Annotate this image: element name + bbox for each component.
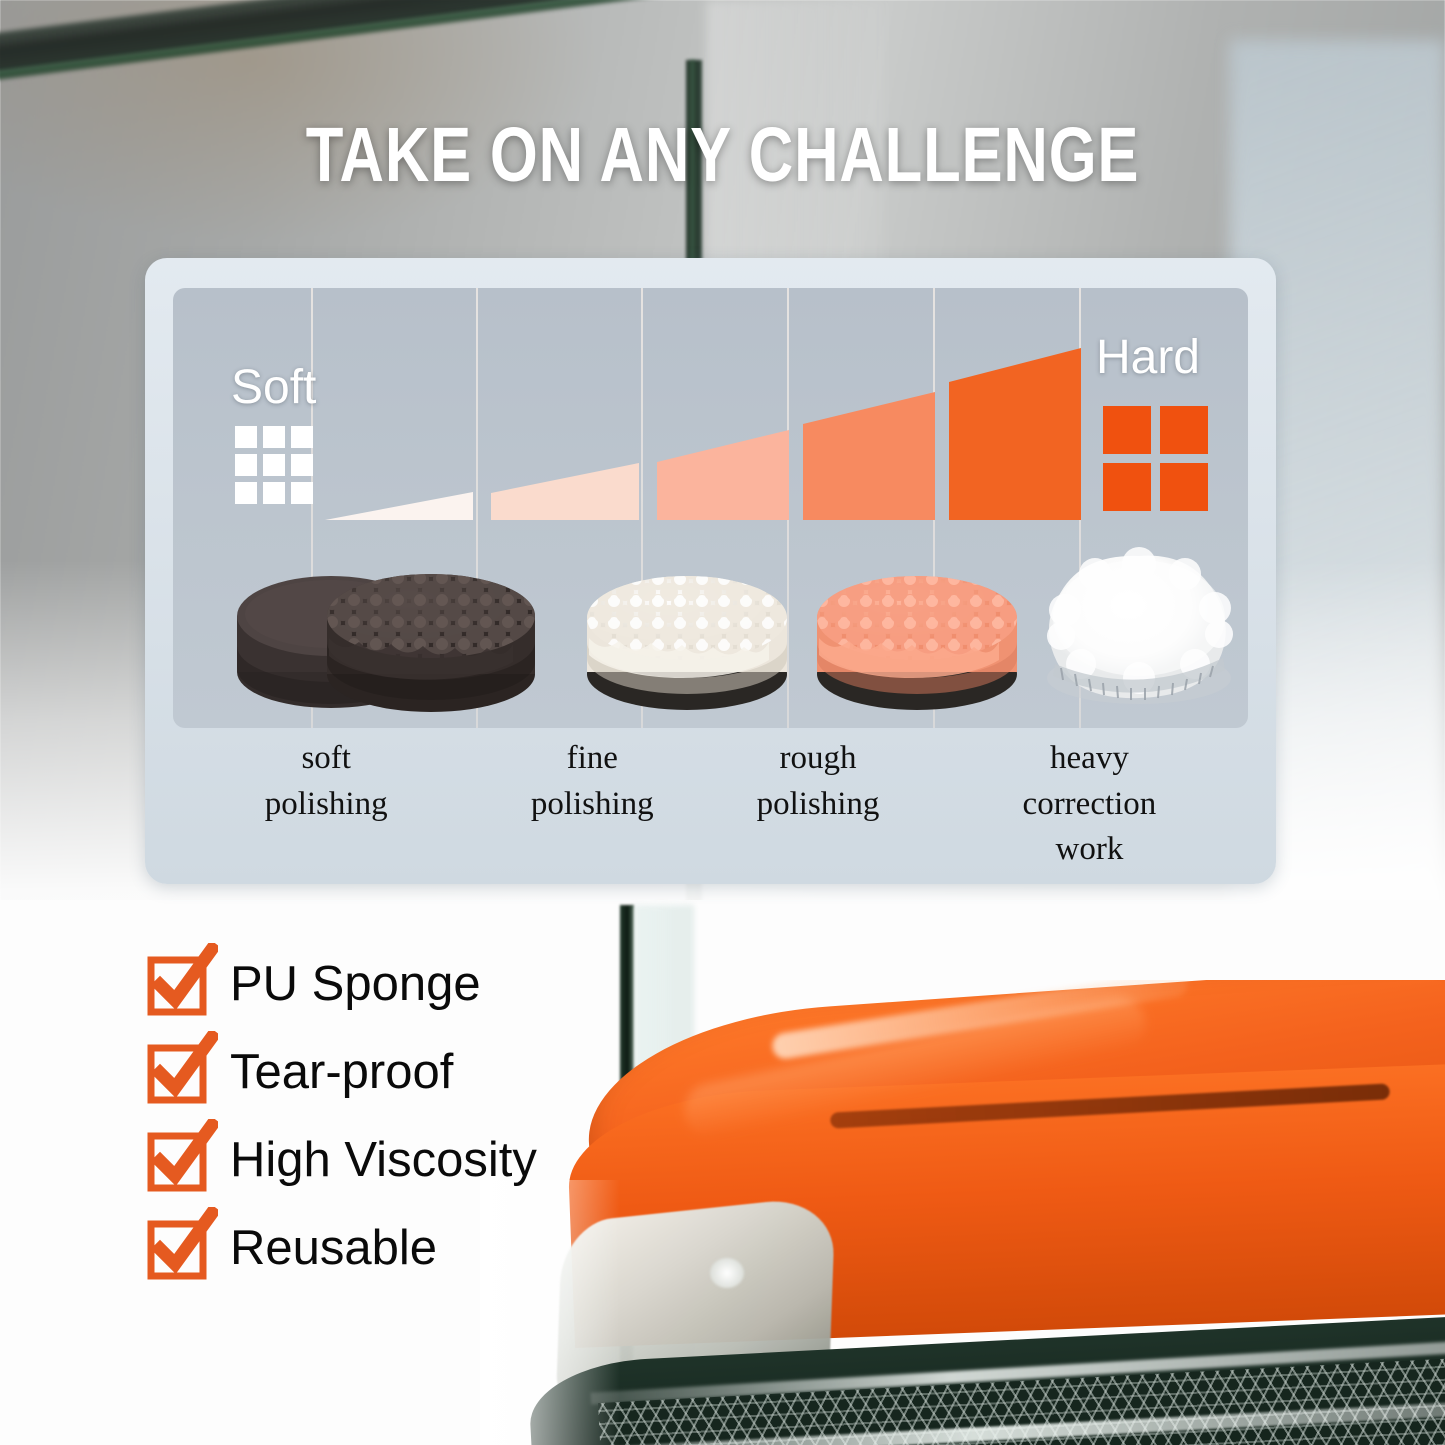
caption-heavy-correction-work: heavy correction work xyxy=(931,736,1248,876)
hardness-bar-3 xyxy=(657,418,789,520)
checkbox-checked-icon[interactable] xyxy=(150,955,208,1013)
hardness-bar-4 xyxy=(803,384,935,520)
checkbox-checked-icon[interactable] xyxy=(150,1219,208,1277)
pad-captions: soft polishing fine polishing rough poli… xyxy=(173,736,1248,876)
caption-fine-polishing: fine polishing xyxy=(479,736,705,876)
checkbox-checked-icon[interactable] xyxy=(150,1043,208,1101)
feature-label: PU Sponge xyxy=(230,960,481,1009)
polishing-pads-row xyxy=(173,538,1248,728)
chart-plot-area: Soft Hard xyxy=(173,288,1248,728)
feature-item-pu-sponge[interactable]: PU Sponge xyxy=(150,940,770,1028)
hardness-bar-5 xyxy=(949,344,1081,520)
white-wool-pad xyxy=(1035,538,1245,718)
page-title: TAKE ON ANY CHALLENGE xyxy=(145,117,1301,194)
feature-label: Reusable xyxy=(230,1224,437,1273)
feature-item-reusable[interactable]: Reusable xyxy=(150,1204,770,1292)
hardness-bar-2 xyxy=(491,450,639,520)
infographic-stage: TAKE ON ANY CHALLENGE Soft Hard xyxy=(0,0,1445,1445)
orange-waffle-pad xyxy=(811,548,1023,720)
feature-item-high-viscosity[interactable]: High Viscosity xyxy=(150,1116,770,1204)
caption-soft-polishing: soft polishing xyxy=(173,736,479,876)
caption-rough-polishing: rough polishing xyxy=(705,736,931,876)
hardness-bars xyxy=(173,288,1248,538)
feature-label: High Viscosity xyxy=(230,1136,537,1185)
feature-checklist: PU Sponge Tear-proof High Viscosity xyxy=(150,940,770,1292)
hardness-scale-panel: Soft Hard xyxy=(145,258,1276,884)
feature-item-tear-proof[interactable]: Tear-proof xyxy=(150,1028,770,1116)
black-waffle-pad xyxy=(321,546,541,721)
hardness-bar-1 xyxy=(325,474,473,520)
white-waffle-pad xyxy=(581,548,793,720)
checkbox-checked-icon[interactable] xyxy=(150,1131,208,1189)
feature-label: Tear-proof xyxy=(230,1048,453,1097)
